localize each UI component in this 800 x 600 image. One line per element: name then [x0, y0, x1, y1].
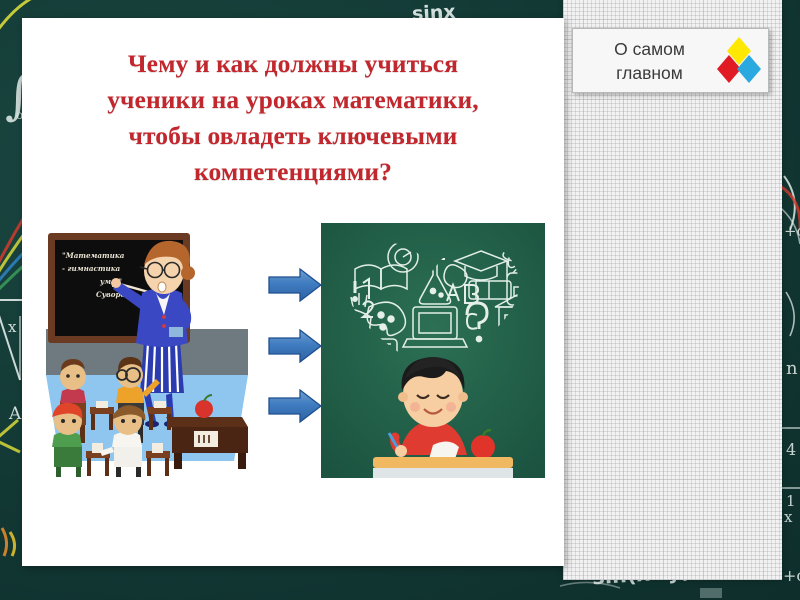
page-title-line-3: чтобы овладеть ключевыми — [40, 118, 546, 154]
page-title-line-2: ученики на уроках математики, — [40, 82, 546, 118]
chalk-mark-12: x — [784, 508, 792, 526]
arrow-right-icon — [268, 389, 322, 423]
classroom-svg: "Математика - гимнастика ума." Суворов — [38, 221, 256, 479]
arrow-group — [268, 268, 322, 423]
chalk-mark-5: A — [9, 404, 21, 424]
chalk-mark-7: +c — [783, 566, 800, 585]
slide-canvas: Чему и как должны учитьсяученики на урок… — [22, 18, 564, 566]
page-title-line-1: Чему и как должны учиться — [40, 46, 546, 82]
learning-heart-illustration — [321, 223, 545, 478]
arrow-right-icon — [268, 329, 322, 363]
brand-card[interactable]: О самом главном — [572, 28, 769, 93]
arrow-right-icon — [268, 268, 322, 302]
brand-title: О самом главном — [583, 37, 716, 85]
slide-stage: sinx∫2oxAsin(x+y)+c+cn41x Чему и как дол… — [0, 0, 800, 600]
chalk-mark-9: n — [786, 358, 798, 379]
chalk-mark-8: +c — [784, 222, 800, 240]
svg-text:"Математика: "Математика — [62, 251, 125, 260]
classroom-illustration: "Математика - гимнастика ума." Суворов — [38, 221, 256, 479]
page-title-line-4: компетенциями? — [40, 154, 546, 190]
brand-title-line2: главном — [583, 61, 716, 85]
page-title: Чему и как должны учитьсяученики на урок… — [40, 46, 546, 190]
diamond-logo-icon — [716, 35, 762, 87]
learning-heart-svg — [321, 223, 545, 478]
svg-text:- гимнастика: - гимнастика — [62, 264, 121, 273]
chalk-mark-4: x — [8, 318, 16, 336]
chalk-mark-10: 4 — [786, 440, 796, 459]
brand-title-line1: О самом — [583, 37, 716, 61]
